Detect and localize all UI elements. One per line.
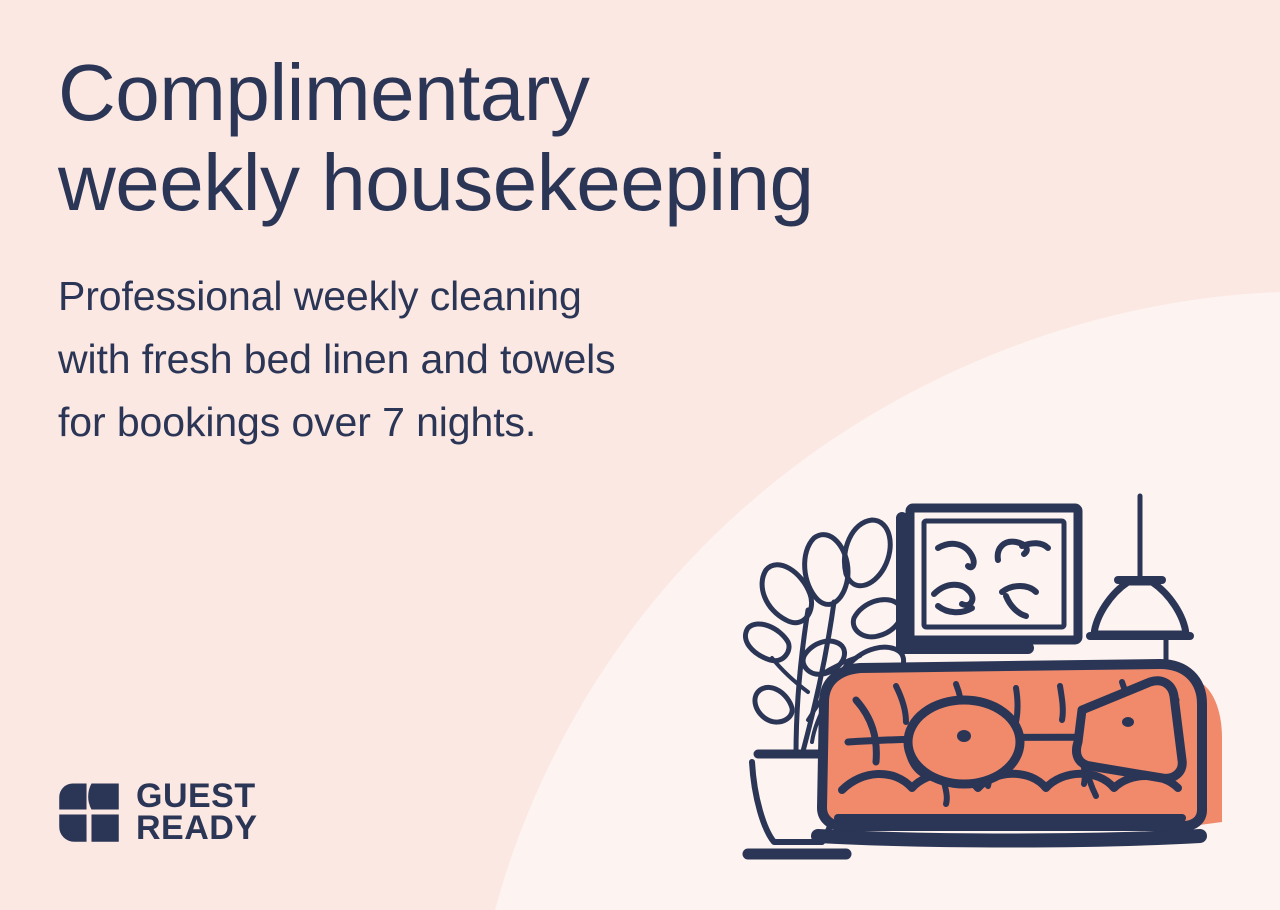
copy-block: Complimentary weekly housekeeping Profes… bbox=[58, 48, 1068, 453]
promo-banner: Complimentary weekly housekeeping Profes… bbox=[0, 0, 1280, 910]
logo-line-guest: GUEST bbox=[136, 780, 258, 812]
logo-wordmark: GUEST READY bbox=[136, 780, 258, 845]
living-room-illustration bbox=[730, 470, 1250, 880]
brand-logo: GUEST READY bbox=[58, 780, 258, 845]
subheading: Professional weekly cleaning with fresh … bbox=[58, 227, 1068, 453]
framed-wall-art bbox=[902, 508, 1078, 648]
coral-sofa bbox=[818, 664, 1222, 841]
pendant-lamp bbox=[1090, 496, 1190, 670]
logo-line-ready: READY bbox=[136, 812, 258, 844]
page-title: Complimentary weekly housekeeping bbox=[58, 48, 1068, 227]
guestready-logo-icon bbox=[58, 781, 120, 843]
